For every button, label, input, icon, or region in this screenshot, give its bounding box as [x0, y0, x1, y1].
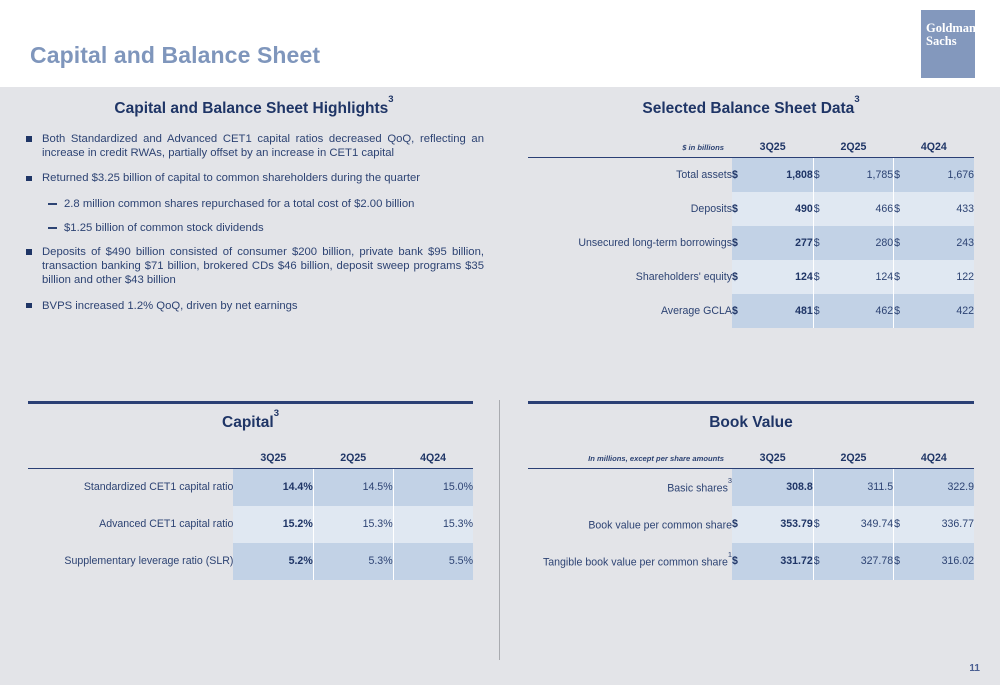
- cell-4q24: 15.0%: [393, 469, 473, 506]
- cell-3q25: 331.72: [748, 543, 813, 580]
- cell-3q25: 124: [748, 260, 813, 294]
- column-header-2q25: 2Q25: [813, 141, 893, 157]
- book-value-title: Book Value: [528, 413, 974, 432]
- vertical-divider: [499, 400, 500, 660]
- row-currency: [813, 469, 830, 506]
- row-label: Total assets: [528, 158, 732, 192]
- table-row: Total assets $ 1,808 $ 1,785 $ 1,676: [528, 158, 974, 192]
- list-item: Both Standardized and Advanced CET1 capi…: [24, 132, 484, 160]
- table-row: Tangible book value per common share1 $ …: [528, 543, 974, 580]
- balance-sheet-title-text: Selected Balance Sheet Data: [642, 100, 854, 117]
- row-currency: $: [732, 226, 748, 260]
- table-row: Advanced CET1 capital ratio 15.2% 15.3% …: [28, 506, 473, 543]
- book-value-title-text: Book Value: [709, 414, 793, 431]
- cell-3q25: 15.2%: [233, 506, 313, 543]
- row-label: Advanced CET1 capital ratio: [28, 506, 233, 543]
- row-currency: $: [813, 226, 830, 260]
- table-header-row: In millions, except per share amounts 3Q…: [528, 452, 974, 468]
- column-header-3q25: 3Q25: [732, 141, 813, 157]
- capital-title: Capital3: [28, 413, 473, 432]
- cell-2q25: 311.5: [830, 469, 894, 506]
- list-item: Deposits of $490 billion consisted of co…: [24, 245, 484, 288]
- row-currency: $: [894, 294, 911, 328]
- cell-2q25: 462: [830, 294, 894, 328]
- row-label: Tangible book value per common share1: [528, 543, 732, 580]
- cell-2q25: 5.3%: [313, 543, 393, 580]
- row-currency: $: [732, 543, 748, 580]
- highlights-title-footnote: 3: [388, 94, 393, 105]
- column-header-3q25: 3Q25: [732, 452, 813, 468]
- slide: Capital and Balance Sheet Goldman Sachs …: [0, 0, 1000, 685]
- cell-3q25: 1,808: [748, 158, 813, 192]
- highlights-bullet-list: Both Standardized and Advanced CET1 capi…: [24, 132, 484, 324]
- row-label-text: Tangible book value per common share: [543, 556, 728, 568]
- row-currency: $: [813, 158, 830, 192]
- highlights-title-text: Capital and Balance Sheet Highlights: [114, 100, 388, 117]
- row-label: Average GCLA: [528, 294, 732, 328]
- cell-2q25: 466: [830, 192, 894, 226]
- list-item: 2.8 million common shares repurchased fo…: [24, 197, 484, 211]
- page-number: 11: [969, 663, 980, 674]
- row-label-footnote: 3: [728, 476, 732, 485]
- book-value-table: In millions, except per share amounts 3Q…: [528, 452, 974, 580]
- row-currency: $: [732, 294, 748, 328]
- column-header-3q25: 3Q25: [233, 452, 313, 468]
- row-currency: $: [894, 260, 911, 294]
- row-currency: [894, 469, 911, 506]
- capital-title-footnote: 3: [274, 408, 279, 419]
- row-currency: $: [732, 260, 748, 294]
- table-row: Shareholders' equity $ 124 $ 124 $ 122: [528, 260, 974, 294]
- cell-4q24: 433: [910, 192, 974, 226]
- logo-line-2: Sachs: [921, 35, 975, 48]
- table-header-row: $ in billions 3Q25 2Q25 4Q24: [528, 141, 974, 157]
- capital-table: 3Q25 2Q25 4Q24 Standardized CET1 capital…: [28, 452, 473, 580]
- cell-2q25: 124: [830, 260, 894, 294]
- capital-panel-rule: [28, 401, 473, 404]
- row-currency: $: [894, 192, 911, 226]
- cell-2q25: 349.74: [830, 506, 894, 543]
- cell-4q24: 1,676: [910, 158, 974, 192]
- cell-3q25: 5.2%: [233, 543, 313, 580]
- row-currency: $: [813, 543, 830, 580]
- cell-3q25: 277: [748, 226, 813, 260]
- cell-4q24: 316.02: [910, 543, 974, 580]
- table-row: Average GCLA $ 481 $ 462 $ 422: [528, 294, 974, 328]
- balance-sheet-table: $ in billions 3Q25 2Q25 4Q24 Total asset…: [528, 141, 974, 328]
- cell-2q25: 14.5%: [313, 469, 393, 506]
- column-header-2q25: 2Q25: [813, 452, 893, 468]
- row-currency: $: [813, 294, 830, 328]
- row-label: Deposits: [528, 192, 732, 226]
- cell-3q25: 490: [748, 192, 813, 226]
- list-item: BVPS increased 1.2% QoQ, driven by net e…: [24, 299, 484, 313]
- row-currency: $: [813, 192, 830, 226]
- cell-3q25: 14.4%: [233, 469, 313, 506]
- cell-3q25: 353.79: [748, 506, 813, 543]
- table-row: Standardized CET1 capital ratio 14.4% 14…: [28, 469, 473, 506]
- cell-2q25: 15.3%: [313, 506, 393, 543]
- cell-4q24: 422: [910, 294, 974, 328]
- book-value-panel-rule: [528, 401, 974, 404]
- cell-3q25: 308.8: [748, 469, 813, 506]
- balance-sheet-title: Selected Balance Sheet Data3: [528, 99, 974, 118]
- row-currency: $: [813, 506, 830, 543]
- column-header-4q24: 4Q24: [393, 452, 473, 468]
- cell-4q24: 336.77: [910, 506, 974, 543]
- row-currency: $: [894, 158, 911, 192]
- row-currency: $: [813, 260, 830, 294]
- table-row: Deposits $ 490 $ 466 $ 433: [528, 192, 974, 226]
- cell-4q24: 243: [910, 226, 974, 260]
- row-currency: $: [732, 158, 748, 192]
- row-currency: [732, 469, 748, 506]
- row-currency: $: [894, 543, 911, 580]
- units-label: $ in billions: [528, 141, 732, 157]
- cell-4q24: 322.9: [910, 469, 974, 506]
- cell-4q24: 15.3%: [393, 506, 473, 543]
- row-currency: $: [894, 506, 911, 543]
- cell-2q25: 327.78: [830, 543, 894, 580]
- page-title: Capital and Balance Sheet: [30, 42, 320, 69]
- row-currency: $: [894, 226, 911, 260]
- row-label-footnote: 1: [728, 550, 732, 559]
- list-item: Returned $3.25 billion of capital to com…: [24, 171, 484, 185]
- row-label: Standardized CET1 capital ratio: [28, 469, 233, 506]
- row-label: Unsecured long-term borrowings: [528, 226, 732, 260]
- table-row: Basic shares3 308.8 311.5 322.9: [528, 469, 974, 506]
- units-label: [28, 452, 233, 468]
- cell-4q24: 122: [910, 260, 974, 294]
- column-header-4q24: 4Q24: [894, 141, 974, 157]
- slide-header: Capital and Balance Sheet Goldman Sachs: [0, 0, 1000, 87]
- row-label-text: Basic shares: [667, 483, 728, 495]
- table-row: Supplementary leverage ratio (SLR) 5.2% …: [28, 543, 473, 580]
- cell-2q25: 1,785: [830, 158, 894, 192]
- table-row: Book value per common share $ 353.79 $ 3…: [528, 506, 974, 543]
- row-currency: $: [732, 192, 748, 226]
- list-item: $1.25 billion of common stock dividends: [24, 221, 484, 235]
- logo-line-1: Goldman: [921, 10, 975, 35]
- row-currency: $: [732, 506, 748, 543]
- cell-4q24: 5.5%: [393, 543, 473, 580]
- highlights-title: Capital and Balance Sheet Highlights3: [24, 99, 484, 118]
- capital-title-text: Capital: [222, 414, 274, 431]
- row-label-text: Book value per common share: [588, 519, 732, 531]
- table-header-row: 3Q25 2Q25 4Q24: [28, 452, 473, 468]
- row-label: Basic shares3: [528, 469, 732, 506]
- row-label: Supplementary leverage ratio (SLR): [28, 543, 233, 580]
- units-label: In millions, except per share amounts: [528, 452, 732, 468]
- row-label: Book value per common share: [528, 506, 732, 543]
- row-label: Shareholders' equity: [528, 260, 732, 294]
- column-header-4q24: 4Q24: [894, 452, 974, 468]
- goldman-sachs-logo: Goldman Sachs: [921, 10, 975, 78]
- column-header-2q25: 2Q25: [313, 452, 393, 468]
- table-row: Unsecured long-term borrowings $ 277 $ 2…: [528, 226, 974, 260]
- cell-2q25: 280: [830, 226, 894, 260]
- balance-sheet-title-footnote: 3: [854, 94, 859, 105]
- cell-3q25: 481: [748, 294, 813, 328]
